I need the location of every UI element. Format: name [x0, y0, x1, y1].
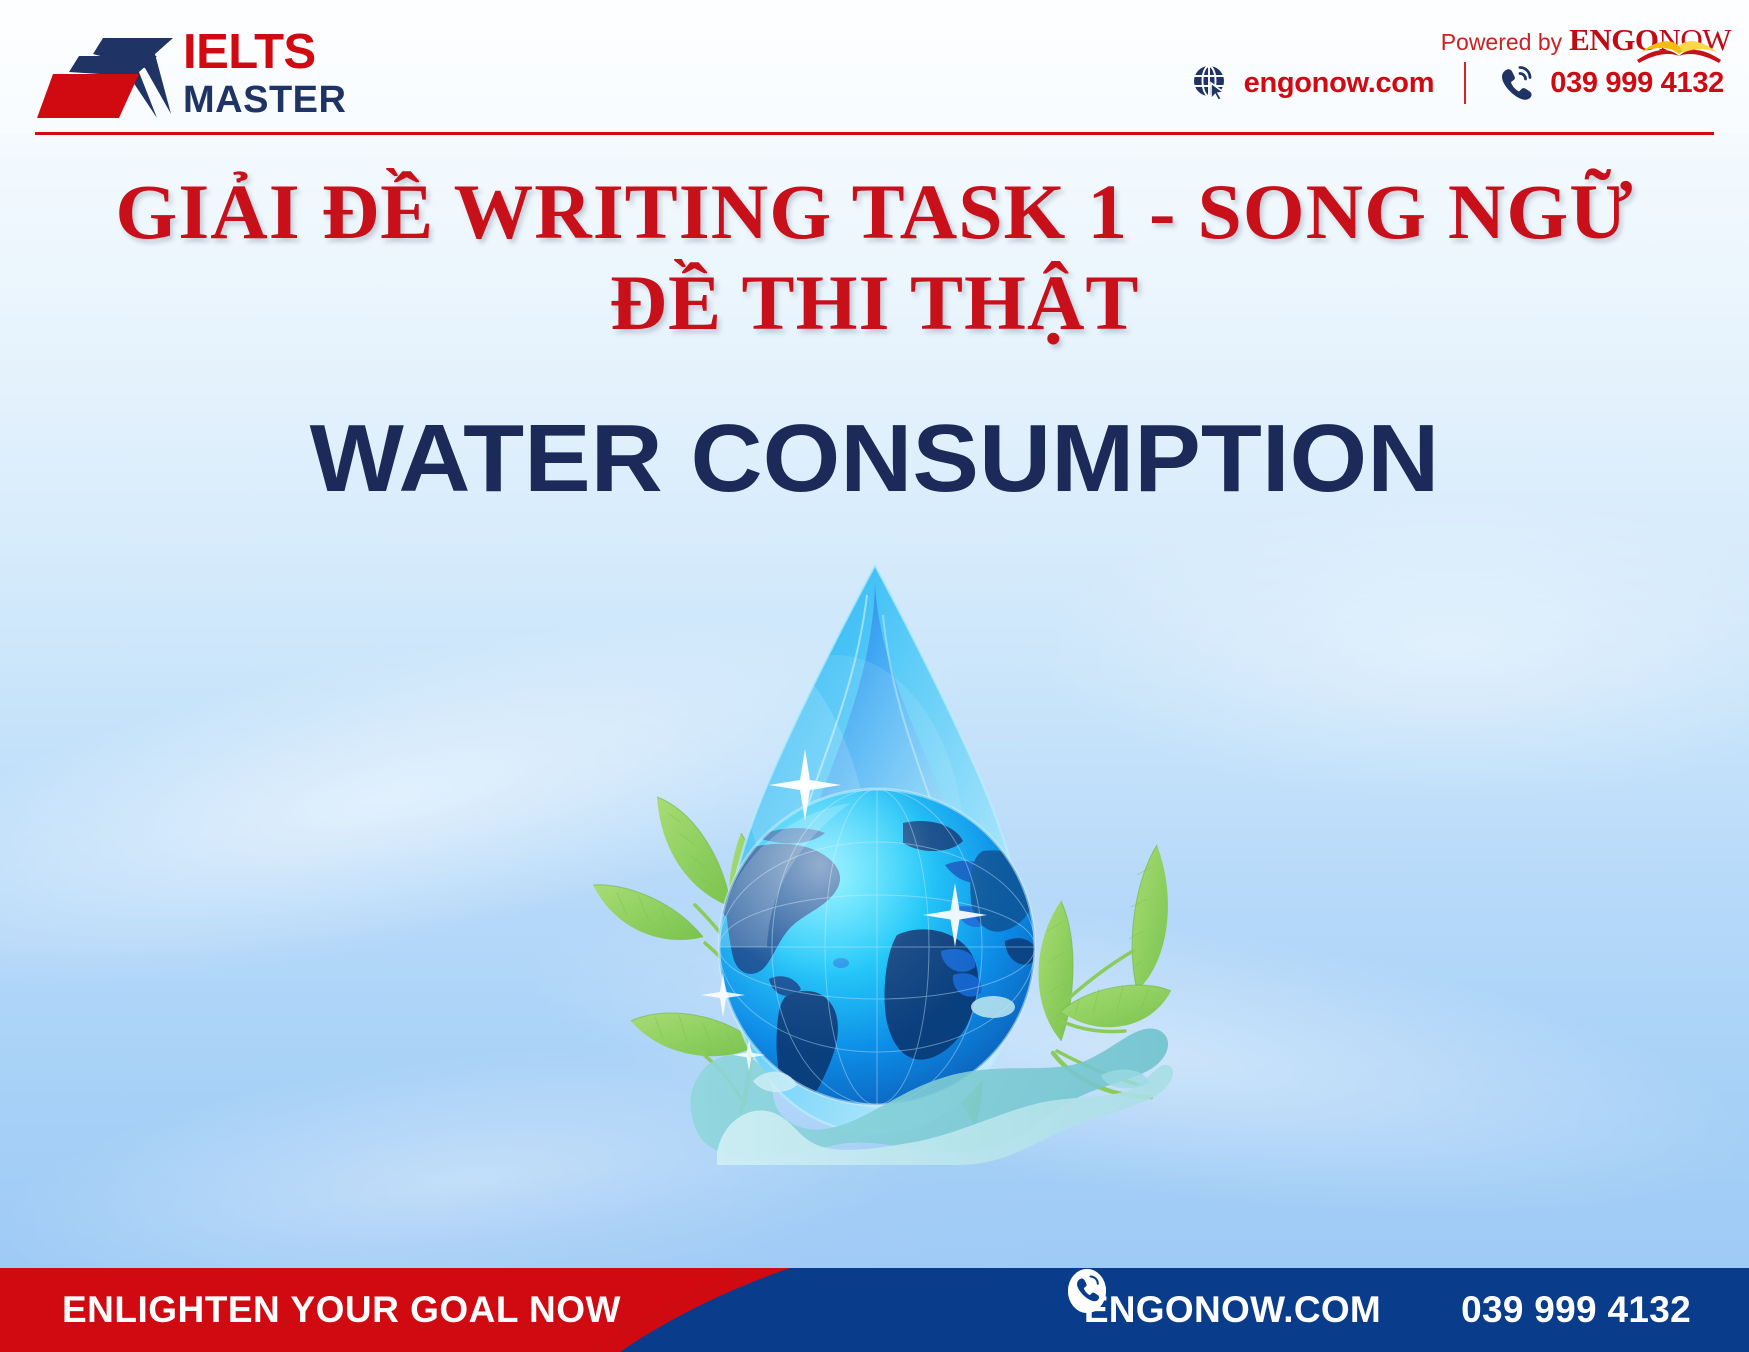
powered-by-engonow[interactable]: Powered by ENGO NOW [1441, 22, 1731, 58]
phone-ring-icon [1496, 63, 1536, 103]
water-droplet-globe-leaves-illustration [505, 555, 1245, 1165]
footer-phone-label: 039 999 4132 [1461, 1289, 1691, 1331]
globe-cursor-icon [1192, 64, 1230, 102]
logo-primary-text: IELTS [183, 28, 346, 77]
footer-phone[interactable]: 039 999 4132 [1443, 1289, 1691, 1331]
layered-pages-logo-icon [35, 18, 185, 118]
header-website-label: engonow.com [1244, 67, 1435, 100]
header-divider-rule [35, 132, 1714, 135]
footer-website-label: ENGONOW.COM [1084, 1289, 1381, 1331]
page-header: IELTS MASTER Powered by ENGO NOW [0, 0, 1749, 134]
powered-by-label: Powered by [1441, 29, 1562, 56]
page-subtitle: WATER CONSUMPTION [0, 404, 1749, 514]
page-footer: ENLIGHTEN YOUR GOAL NOW [0, 1268, 1749, 1352]
logo-wordmark: IELTS MASTER [183, 28, 346, 119]
title-line-2: ĐỀ THI THẬT [0, 259, 1749, 346]
logo-secondary-text: MASTER [183, 81, 346, 119]
title-block: GIẢI ĐỀ WRITING TASK 1 - SONG NGỮ ĐỀ THI… [0, 168, 1749, 347]
title-line-1: GIẢI ĐỀ WRITING TASK 1 - SONG NGỮ [0, 168, 1749, 255]
header-website[interactable]: engonow.com [1192, 64, 1435, 102]
header-divider [1464, 62, 1466, 104]
footer-contact-row: ENGONOW.COM 039 999 4132 [1066, 1268, 1691, 1352]
footer-website[interactable]: ENGONOW.COM [1066, 1289, 1381, 1331]
footer-slogan: ENLIGHTEN YOUR GOAL NOW [62, 1268, 621, 1352]
open-book-swoosh-icon [1635, 32, 1723, 66]
header-phone[interactable]: 039 999 4132 [1496, 63, 1724, 103]
ielts-master-logo[interactable]: IELTS MASTER [35, 18, 345, 118]
poster-canvas: IELTS MASTER Powered by ENGO NOW [0, 0, 1749, 1352]
header-contact-row: engonow.com 039 999 4132 [1192, 62, 1724, 104]
header-phone-label: 039 999 4132 [1550, 67, 1724, 100]
